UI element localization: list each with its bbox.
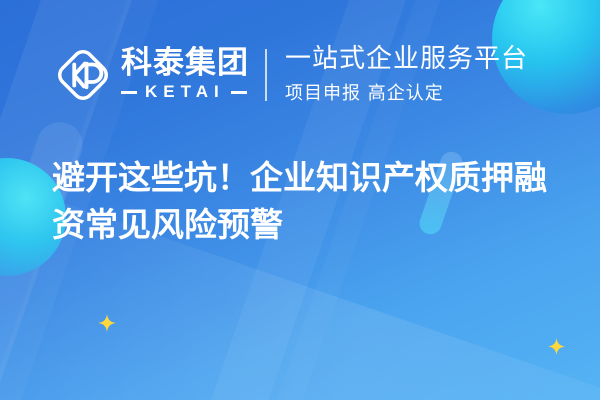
logo-rule-right xyxy=(231,91,247,94)
banner-header: 科泰集团 KETAI 一站式企业服务平台 项目申报 高企认定 xyxy=(0,0,600,150)
page-title: 避开这些坑！企业知识产权质押融 资常见风险预警 xyxy=(52,155,572,249)
ketai-monogram-icon xyxy=(55,47,111,103)
logo-name-cn: 科泰集团 xyxy=(121,48,249,80)
logo-rule-left xyxy=(121,91,137,94)
title-line-1: 避开这些坑！企业知识产权质押融 xyxy=(52,155,572,202)
company-logo: 科泰集团 KETAI xyxy=(55,47,249,103)
vertical-divider-icon xyxy=(265,49,267,101)
promo-banner: 科泰集团 KETAI 一站式企业服务平台 项目申报 高企认定 避开这些坑！企业知… xyxy=(0,0,600,400)
tagline-block: 一站式企业服务平台 项目申报 高企认定 xyxy=(285,45,528,104)
sparkle-icon xyxy=(548,338,565,355)
logo-wordmark: 科泰集团 KETAI xyxy=(121,48,249,103)
logo-name-en: KETAI xyxy=(143,82,225,102)
tagline-sub: 项目申报 高企认定 xyxy=(285,79,528,105)
logo-name-en-row: KETAI xyxy=(121,82,249,102)
tagline-main: 一站式企业服务平台 xyxy=(285,45,528,74)
sparkle-icon xyxy=(98,314,116,332)
title-line-2: 资常见风险预警 xyxy=(52,202,572,249)
